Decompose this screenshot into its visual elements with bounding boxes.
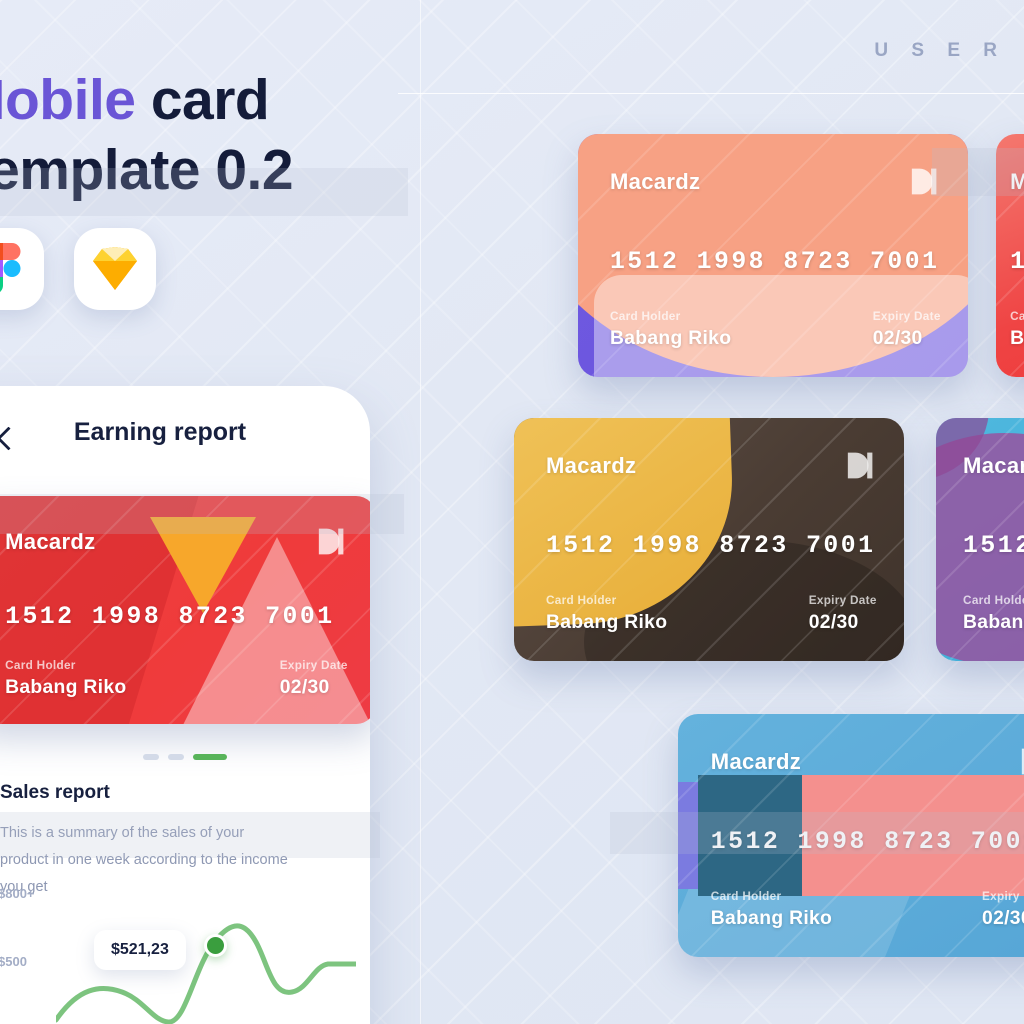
card-holder-block: Card Holder Babang Riko (5, 659, 126, 699)
app-icon-group (0, 228, 156, 310)
card-expiry-block: Expiry Date 02/30 (982, 890, 1024, 930)
card-footer: Card Holder Babang Riko (1010, 310, 1024, 350)
credit-card-brown[interactable]: Macardz 1512 1998 8723 7001 Card Holder … (514, 418, 904, 661)
card-footer: Card Holder Babang (963, 594, 1024, 634)
pager-dot-1[interactable] (143, 754, 159, 760)
card-expiry-value: 02/30 (982, 908, 1024, 930)
card-expiry-label: Expiry Date (809, 594, 877, 607)
card-holder-label: Card Holder (1010, 310, 1024, 323)
carousel-pagination[interactable] (0, 754, 370, 760)
card-chip-logo-icon (909, 166, 941, 200)
sketch-icon[interactable] (74, 228, 156, 310)
card-holder-value: Babang Riko (610, 328, 731, 350)
design-preview-canvas: Mobile card Template 0.2 U S E R (0, 0, 1024, 1024)
card-holder-label: Card Holder (5, 659, 126, 672)
card-chip-logo-icon (316, 526, 348, 560)
card-expiry-label: Expiry Date (280, 659, 348, 672)
card-number: 1512 1998 8723 7001 (5, 603, 334, 631)
card-brand: Macardz (546, 453, 636, 479)
card-holder-block: Card Holder Babang Riko (1010, 310, 1024, 350)
card-footer: Card Holder Babang Riko Expiry Date 02/3… (5, 659, 348, 699)
chart-tooltip: $521,23 (94, 930, 186, 970)
card-expiry-label: Expiry Date (873, 310, 941, 323)
y-axis-tick-800: $800+ (0, 886, 35, 901)
card-holder-value: Babang (963, 612, 1024, 634)
y-axis-tick-500: $500 (0, 954, 27, 969)
pager-dot-3[interactable] (193, 754, 227, 760)
background-horizontal-rule (398, 93, 1024, 94)
card-holder-value: Babang Riko (5, 677, 126, 699)
card-holder-block: Card Holder Babang (963, 594, 1024, 634)
card-footer: Card Holder Babang Riko Expiry Date 02/3… (610, 310, 941, 350)
sales-line-chart: $800+ $500 $100 $521,23 (0, 886, 370, 1024)
hero-title-accent: Mobile (0, 68, 136, 132)
card-number: 1512 1998 8723 7001 (546, 532, 875, 560)
hero-title-rest: card (136, 68, 270, 132)
card-number: 1512 1998 8723 7001 (711, 828, 1024, 856)
card-number: 1512 1998 8723 7001 (1010, 248, 1024, 276)
card-holder-block: Card Holder Babang Riko (711, 890, 832, 930)
chart-highlight-point[interactable] (204, 934, 227, 957)
card-holder-label: Card Holder (963, 594, 1024, 607)
card-brand: Macardz (1010, 169, 1024, 195)
card-brand: Macardz (711, 749, 801, 775)
card-expiry-label: Expiry Date (982, 890, 1024, 903)
card-number: 1512 1998 8723 7001 (610, 248, 939, 276)
card-expiry-value: 02/30 (873, 328, 941, 350)
card-holder-label: Card Holder (610, 310, 731, 323)
card-holder-value: Babang Riko (711, 908, 832, 930)
card-expiry-block: Expiry Date 02/30 (280, 659, 348, 699)
card-expiry-block: Expiry Date 02/30 (809, 594, 877, 634)
card-number: 1512 (963, 532, 1024, 560)
card-holder-block: Card Holder Babang Riko (546, 594, 667, 634)
credit-card-red-partial[interactable]: Macardz 1512 1998 8723 7001 Card Holder … (996, 134, 1024, 377)
card-chip-logo-icon (845, 450, 877, 484)
card-holder-value: Babang Riko (1010, 328, 1024, 350)
card-expiry-block: Expiry Date 02/30 (873, 310, 941, 350)
card-holder-label: Card Holder (711, 890, 832, 903)
credit-card-blue[interactable]: Macardz 1512 1998 8723 7001 Card Holder … (678, 714, 1024, 957)
credit-card-purple[interactable]: Macardz 1512 1998 8723 7001 Card Holder … (578, 134, 968, 377)
card-holder-value: Babang Riko (546, 612, 667, 634)
sales-report-title: Sales report (0, 782, 342, 804)
credit-card-teal[interactable]: Macardz 1512 Card Holder Babang (936, 418, 1024, 661)
card-holder-block: Card Holder Babang Riko (610, 310, 731, 350)
phone-header: Earning report (0, 386, 370, 478)
card-footer: Card Holder Babang Riko Expiry Date 02/3… (711, 890, 1024, 930)
card-brand: Macardz (963, 453, 1024, 479)
card-footer: Card Holder Babang Riko Expiry Date 02/3… (546, 594, 877, 634)
card-brand: Macardz (5, 529, 95, 555)
hero-title-line2: Template 0.2 (0, 128, 428, 212)
card-expiry-value: 02/30 (280, 677, 348, 699)
card-holder-label: Card Holder (546, 594, 667, 607)
card-expiry-value: 02/30 (809, 612, 877, 634)
card-brand: Macardz (610, 169, 700, 195)
figma-icon[interactable] (0, 228, 44, 310)
phone-mockup: Earning report Macardz 1512 1998 8723 70… (0, 386, 370, 1024)
hero-heading: Mobile card Template 0.2 (0, 58, 428, 213)
card-chip-logo-icon (1019, 746, 1024, 780)
page-title: Earning report (0, 418, 370, 447)
pager-dot-2[interactable] (168, 754, 184, 760)
user-section-label: U S E R (874, 40, 1006, 62)
credit-card-red[interactable]: Macardz 1512 1998 8723 7001 Card Holder … (0, 496, 370, 724)
